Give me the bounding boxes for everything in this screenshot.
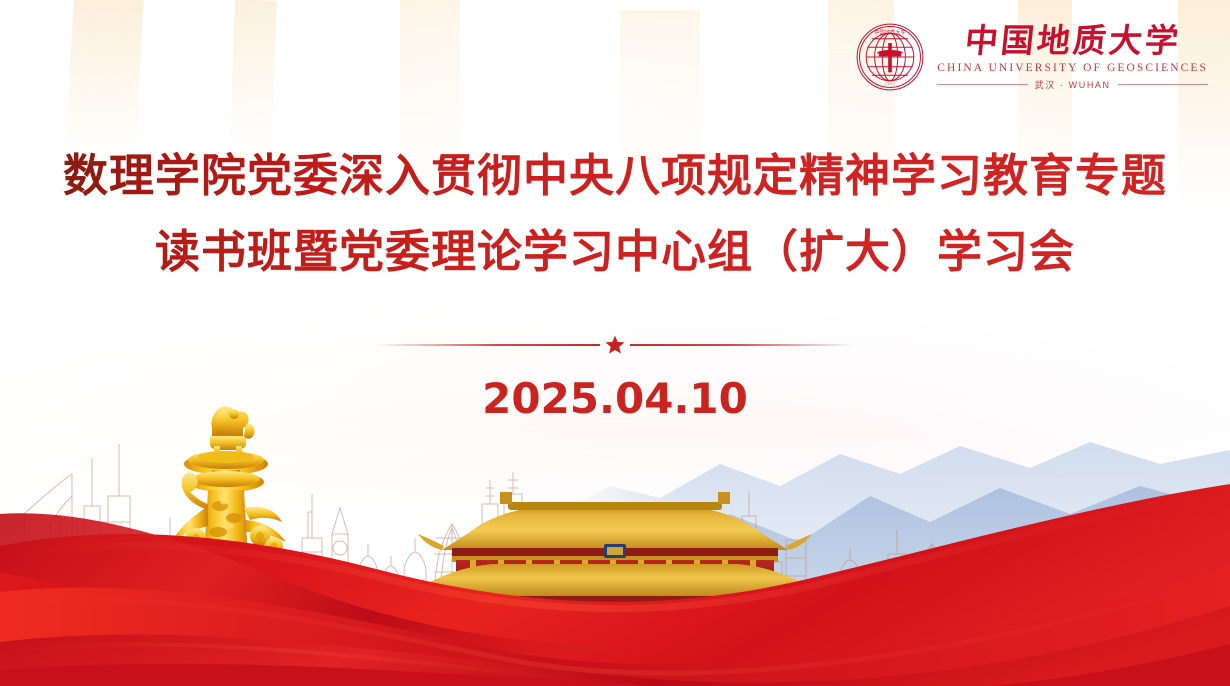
cug-circular-seal-icon: 中国地质大学 1 9 5 2 [855, 22, 925, 92]
five-point-star-icon [600, 334, 630, 356]
logo-campus-row: 武汉 · WUHAN [937, 78, 1208, 91]
logo-name-en: CHINA UNIVERSITY OF GEOSCIENCES [937, 62, 1208, 74]
red-silk-ribbon-icon [0, 446, 1230, 686]
university-logo: 中国地质大学 1 9 5 2 中国地质大学 CHINA UNIVERSITY O… [855, 22, 1208, 92]
logo-rule-left [937, 84, 1027, 85]
logo-text-block: 中国地质大学 CHINA UNIVERSITY OF GEOSCIENCES 武… [937, 23, 1208, 91]
divider-rule-left [375, 344, 600, 346]
logo-name-cn: 中国地质大学 [963, 23, 1183, 59]
title-line-1: 数理学院党委深入贯彻中央八项规定精神学习教育专题 [0, 138, 1230, 214]
star-divider [375, 328, 855, 362]
title-line-2: 读书班暨党委理论学习中心组（扩大）学习会 [0, 214, 1230, 290]
banner-stage: 中国地质大学 1 9 5 2 中国地质大学 CHINA UNIVERSITY O… [0, 0, 1230, 686]
svg-text:1 9 5 2: 1 9 5 2 [885, 82, 895, 86]
logo-rule-right [1118, 84, 1208, 85]
event-date: 2025.04.10 [0, 374, 1230, 423]
divider-rule-right [630, 344, 855, 346]
page-title: 数理学院党委深入贯彻中央八项规定精神学习教育专题 读书班暨党委理论学习中心组（扩… [0, 138, 1230, 290]
logo-campus: 武汉 · WUHAN [1035, 78, 1111, 91]
